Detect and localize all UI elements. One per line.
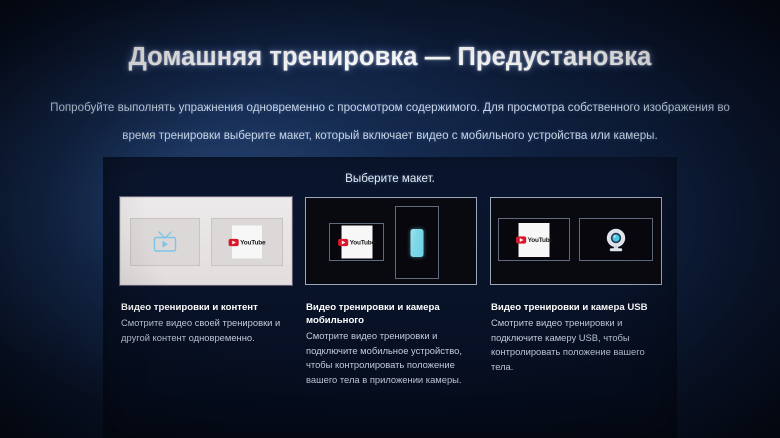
usb-webcam-icon xyxy=(604,227,628,253)
page-title: Домашняя тренировка — Предустановка xyxy=(0,43,780,72)
youtube-logo: YouTube xyxy=(519,223,550,257)
thumb-pane-left: YouTube xyxy=(329,223,384,261)
thumb-pane-left xyxy=(130,218,200,266)
mobile-phone-icon xyxy=(411,229,424,257)
youtube-wordmark: YouTube xyxy=(350,239,375,245)
layout-caption: Видео тренировки и камера мобильного Смо… xyxy=(306,301,472,387)
thumb-pane-left: YouTube xyxy=(498,218,570,261)
layout-caption: Видео тренировки и камера USB Смотрите в… xyxy=(491,301,657,374)
youtube-wordmark: YouTube xyxy=(240,239,265,245)
page-description: Попробуйте выполнять упражнения одноврем… xyxy=(40,94,740,150)
tv-icon xyxy=(152,230,178,254)
layout-description: Смотрите видео тренировки и подключите к… xyxy=(491,316,657,374)
youtube-play-badge-icon xyxy=(516,236,526,243)
home-workout-screen: Домашняя тренировка — Предустановка Попр… xyxy=(0,0,780,438)
layout-description: Смотрите видео тренировки и подключите м… xyxy=(306,329,472,387)
youtube-wordmark: YouTube xyxy=(527,236,552,242)
youtube-logo: YouTube xyxy=(341,226,372,259)
youtube-play-badge-icon xyxy=(338,238,348,245)
layout-title: Видео тренировки и камера мобильного xyxy=(306,301,472,327)
layout-thumbnail[interactable]: YouTube xyxy=(120,197,292,285)
layout-thumbnail[interactable]: YouTube xyxy=(305,197,477,285)
layout-caption: Видео тренировки и контент Смотрите виде… xyxy=(121,301,287,345)
thumb-pane-right: YouTube xyxy=(211,218,283,266)
panel-heading: Выберите макет. xyxy=(103,172,677,185)
layout-selection-panel: Выберите макет. YouTube xyxy=(103,157,677,438)
layout-title: Видео тренировки и контент xyxy=(121,301,287,314)
layout-option-video-and-content[interactable]: YouTube Видео тренировки и контент Смотр… xyxy=(120,197,296,285)
youtube-logo: YouTube xyxy=(232,226,262,259)
youtube-play-badge-icon xyxy=(229,238,239,245)
layout-title: Видео тренировки и камера USB xyxy=(491,301,657,314)
thumb-pane-right xyxy=(395,206,439,279)
layout-option-video-and-usb-camera[interactable]: YouTube Видео тренировки и xyxy=(490,197,666,285)
thumb-pane-right xyxy=(579,218,653,261)
layout-option-video-and-mobile-camera[interactable]: YouTube Видео тренировки и камера мобиль… xyxy=(305,197,481,285)
layout-thumbnail[interactable]: YouTube xyxy=(490,197,662,285)
layout-description: Смотрите видео своей тренировки и другой… xyxy=(121,316,287,345)
